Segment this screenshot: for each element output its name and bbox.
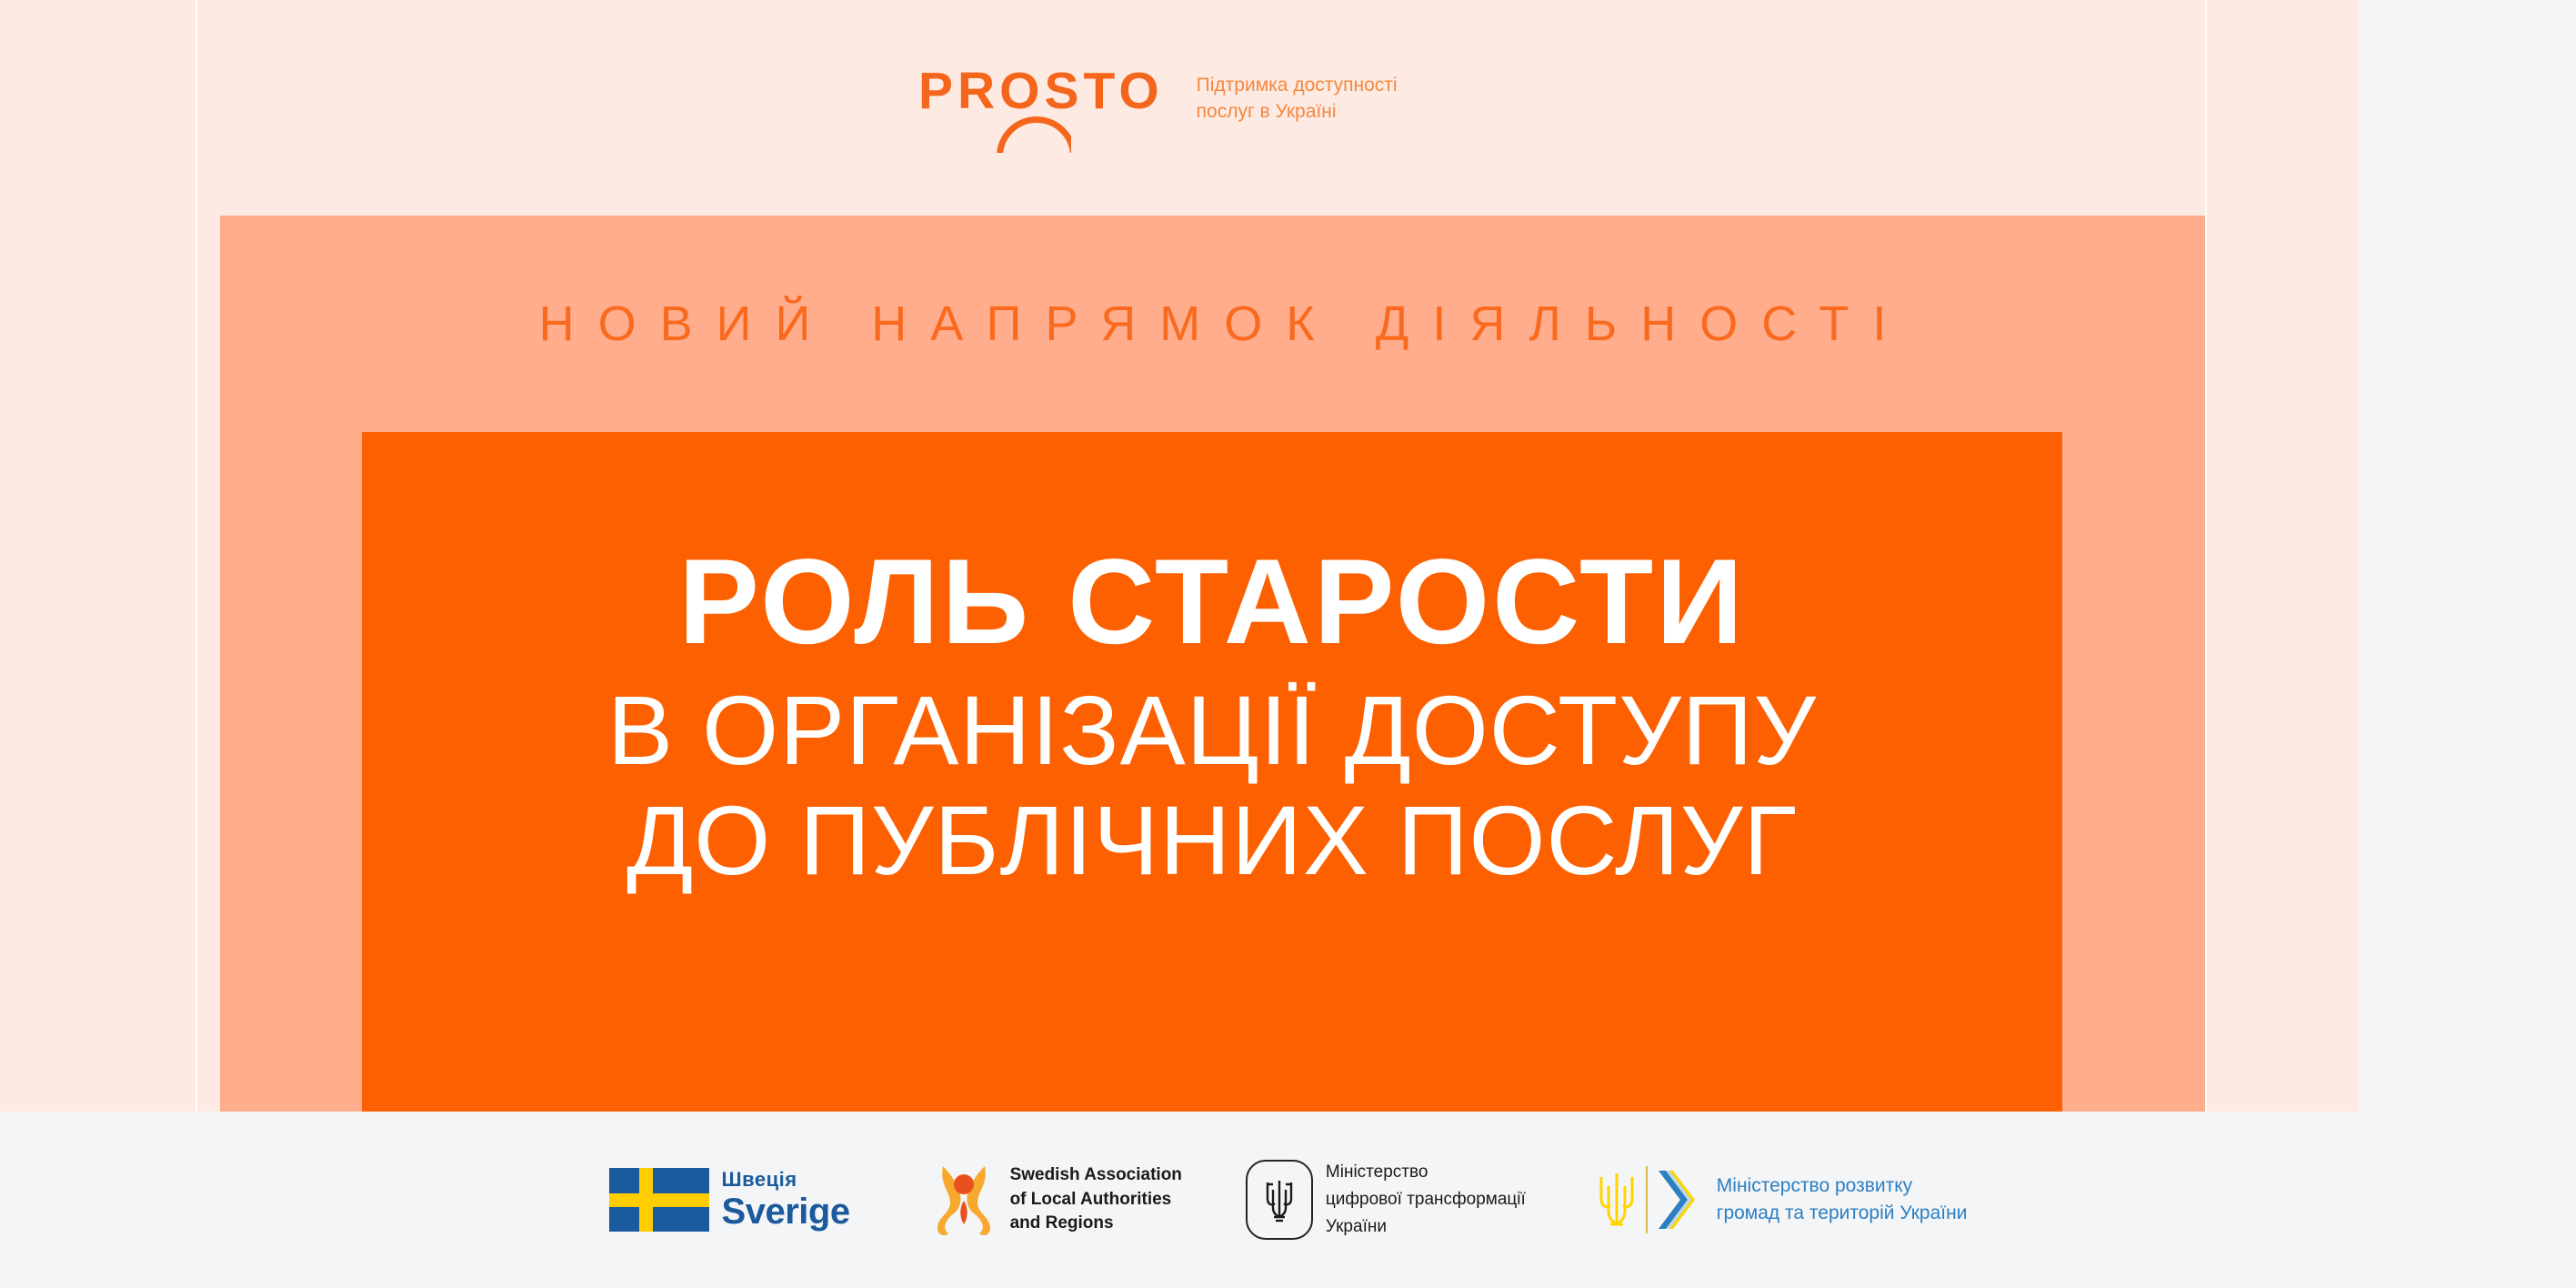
logo-ministry-digital-transformation[interactable]: Міністерство цифрової трансформації Укра… bbox=[1246, 1159, 1526, 1241]
layout-guide-line-right bbox=[2205, 0, 2207, 1288]
logo-ministry-communities-development[interactable]: Міністерство розвитку громад та територі… bbox=[1595, 1165, 1968, 1234]
hero-title-sub-line1: В ОРГАНІЗАЦІЇ ДОСТУПУ bbox=[607, 675, 1817, 785]
salar-logo-text: Swedish Association of Local Authorities… bbox=[1010, 1163, 1182, 1237]
logo-sweden[interactable]: Швеція Sverige bbox=[609, 1168, 850, 1232]
sweden-flag-icon bbox=[609, 1168, 709, 1232]
ministry-digital-transformation-text: Міністерство цифрової трансформації Укра… bbox=[1326, 1159, 1526, 1241]
logo-divider bbox=[1646, 1166, 1648, 1233]
footer-bar: Швеція Sverige Swedish Association of Lo… bbox=[0, 1112, 2576, 1288]
brand-tagline: Підтримка доступності послуг в Україні bbox=[1197, 65, 1398, 126]
logo-salar[interactable]: Swedish Association of Local Authorities… bbox=[930, 1161, 1182, 1239]
hero-title-main: РОЛЬ СТАРОСТИ bbox=[362, 541, 2062, 665]
prosto-wordmark: PROSTO bbox=[918, 65, 1164, 117]
hero-peach-panel: НОВИЙ НАПРЯМОК ДІЯЛЬНОСТІ РОЛЬ СТАРОСТИ … bbox=[220, 216, 2205, 1112]
hero-title-sub-line2: ДО ПУБЛІЧНИХ ПОСЛУГ bbox=[362, 786, 2062, 896]
footer-logo-row: Швеція Sverige Swedish Association of Lo… bbox=[0, 1112, 2576, 1288]
hero-eyebrow: НОВИЙ НАПРЯМОК ДІЯЛЬНОСТІ bbox=[220, 296, 2205, 352]
layout-guide-line-left bbox=[195, 0, 197, 1288]
prosto-logo[interactable]: PROSTO bbox=[918, 65, 1164, 117]
sweden-label-sv: Sverige bbox=[722, 1193, 850, 1230]
sweden-label-uk: Швеція bbox=[722, 1170, 850, 1190]
smile-arc-icon bbox=[997, 116, 1071, 153]
ministry-communities-development-text: Міністерство розвитку громад та територі… bbox=[1717, 1172, 1968, 1228]
ukraine-trident-chevron-icon bbox=[1595, 1165, 1704, 1234]
ukraine-trident-rounded-icon bbox=[1246, 1160, 1313, 1240]
brand-header: PROSTO Підтримка доступності послуг в Ук… bbox=[918, 65, 1398, 126]
presentation-slide: PROSTO Підтримка доступності послуг в Ук… bbox=[0, 0, 2576, 1288]
salar-flame-figure-icon bbox=[930, 1161, 997, 1239]
hero-title-sub: В ОРГАНІЗАЦІЇ ДОСТУПУ ДО ПУБЛІЧНИХ ПОСЛУ… bbox=[362, 676, 2062, 896]
hero-orange-block: РОЛЬ СТАРОСТИ В ОРГАНІЗАЦІЇ ДОСТУПУ ДО П… bbox=[362, 432, 2062, 1112]
sweden-logo-text: Швеція Sverige bbox=[722, 1170, 850, 1230]
hero-title-group: РОЛЬ СТАРОСТИ В ОРГАНІЗАЦІЇ ДОСТУПУ ДО П… bbox=[362, 541, 2062, 896]
